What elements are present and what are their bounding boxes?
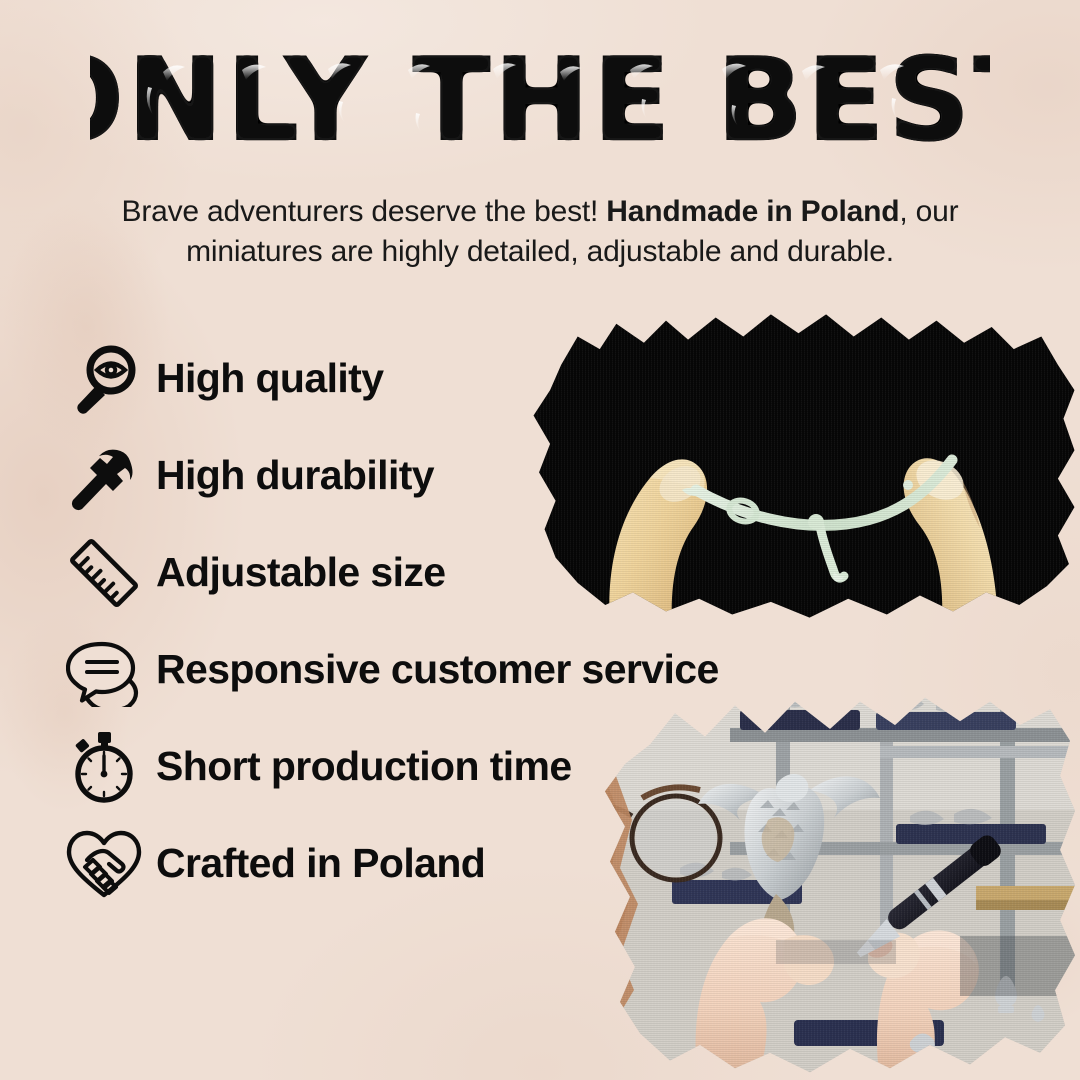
workshop-painting-photo bbox=[580, 690, 1080, 1080]
feature-label: Crafted in Poland bbox=[156, 840, 485, 887]
handshake-heart-icon bbox=[62, 824, 146, 904]
stopwatch-icon bbox=[62, 727, 146, 807]
ruler-icon bbox=[62, 533, 146, 613]
subtitle-emphasis: Handmade in Poland bbox=[606, 195, 899, 228]
magnifier-eye-icon bbox=[62, 339, 146, 419]
workshop-artwork bbox=[580, 690, 1080, 1080]
headline-text: ONLY THE BEST bbox=[90, 36, 990, 168]
page-title: ONLY THE BEST bbox=[0, 36, 1080, 168]
flexible-miniature-artwork bbox=[528, 308, 1080, 624]
headline-lettering: ONLY THE BEST bbox=[90, 36, 990, 168]
feature-label: Adjustable size bbox=[156, 549, 445, 596]
poster-canvas: ONLY THE BEST bbox=[0, 0, 1080, 1080]
feature-label: High durability bbox=[156, 452, 434, 499]
hammer-icon bbox=[62, 436, 146, 516]
feature-label: Responsive customer service bbox=[156, 646, 719, 693]
subtitle: Brave adventurers deserve the best! Hand… bbox=[90, 192, 990, 272]
feature-label: Short production time bbox=[156, 743, 572, 790]
feature-label: High quality bbox=[156, 355, 383, 402]
subtitle-lead: Brave adventurers deserve the best! bbox=[122, 195, 607, 228]
speech-bubbles-icon bbox=[62, 630, 146, 710]
flexible-miniature-photo bbox=[528, 308, 1080, 624]
